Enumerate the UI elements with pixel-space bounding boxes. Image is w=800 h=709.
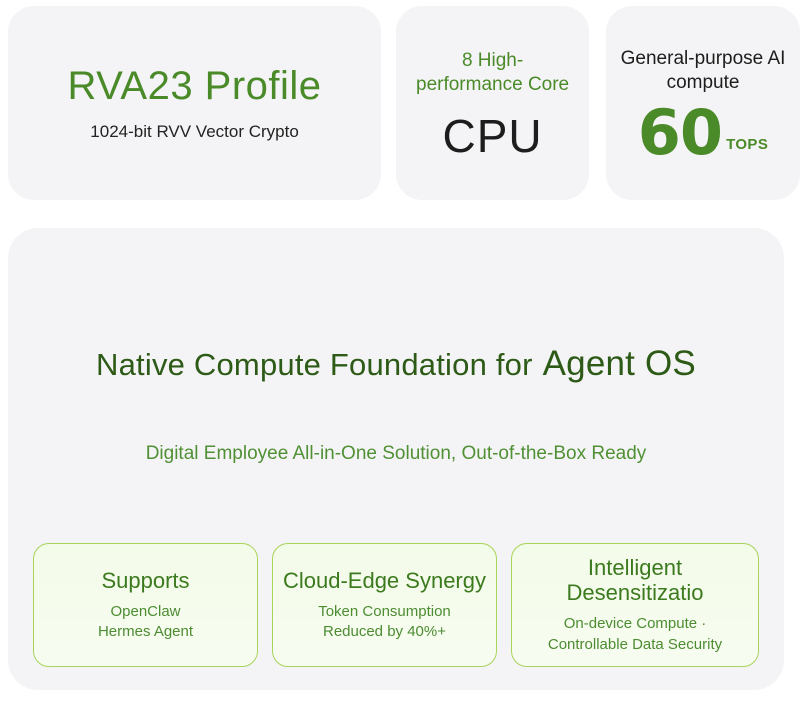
intelligent-desensitization-line-1: On-device Compute · bbox=[564, 614, 707, 634]
ai-compute-title: General-purpose AI compute bbox=[606, 47, 800, 96]
spec-cards-row: RVA23 Profile 1024-bit RVV Vector Crypto… bbox=[8, 6, 800, 200]
intelligent-desensitization-title: Intelligent Desensitizatio bbox=[518, 555, 752, 605]
spec-card-ai-compute: General-purpose AI compute 60 TOPS bbox=[606, 6, 800, 200]
headline-accent-text: Agent OS bbox=[543, 344, 696, 383]
ai-compute-value-row: 60 TOPS bbox=[638, 104, 768, 161]
spec-card-cpu: 8 High-performance Core CPU bbox=[396, 6, 589, 200]
supports-line-2: Hermes Agent bbox=[98, 622, 193, 642]
cloud-edge-synergy-line-2: Reduced by 40%+ bbox=[323, 622, 446, 642]
feature-cards-row: Supports OpenClaw Hermes Agent Cloud-Edg… bbox=[33, 543, 759, 667]
rva23-profile-subtitle: 1024-bit RVV Vector Crypto bbox=[90, 122, 299, 142]
page-subtitle: Digital Employee All-in-One Solution, Ou… bbox=[8, 443, 784, 465]
supports-line-1: OpenClaw bbox=[110, 602, 180, 622]
supports-title: Supports bbox=[101, 568, 189, 593]
cloud-edge-synergy-line-1: Token Consumption bbox=[318, 602, 451, 622]
cpu-core-title: 8 High-performance Core bbox=[413, 49, 573, 98]
rva23-profile-title: RVA23 Profile bbox=[68, 64, 322, 108]
main-panel: Native Compute Foundation forAgent OS Di… bbox=[8, 228, 784, 690]
cloud-edge-synergy-title: Cloud-Edge Synergy bbox=[283, 568, 486, 593]
cpu-label: CPU bbox=[443, 109, 543, 163]
spec-card-rva23-profile: RVA23 Profile 1024-bit RVV Vector Crypto bbox=[8, 6, 381, 200]
feature-card-cloud-edge-synergy: Cloud-Edge Synergy Token Consumption Red… bbox=[272, 543, 497, 667]
page-title: Native Compute Foundation forAgent OS bbox=[8, 344, 784, 384]
feature-card-intelligent-desensitization: Intelligent Desensitizatio On-device Com… bbox=[511, 543, 759, 667]
headline-main-text: Native Compute Foundation for bbox=[96, 347, 533, 382]
feature-card-supports: Supports OpenClaw Hermes Agent bbox=[33, 543, 258, 667]
intelligent-desensitization-line-2: Controllable Data Security bbox=[548, 635, 722, 655]
ai-compute-tops-unit: TOPS bbox=[726, 136, 768, 153]
ai-compute-tops-number: 60 bbox=[638, 104, 722, 161]
